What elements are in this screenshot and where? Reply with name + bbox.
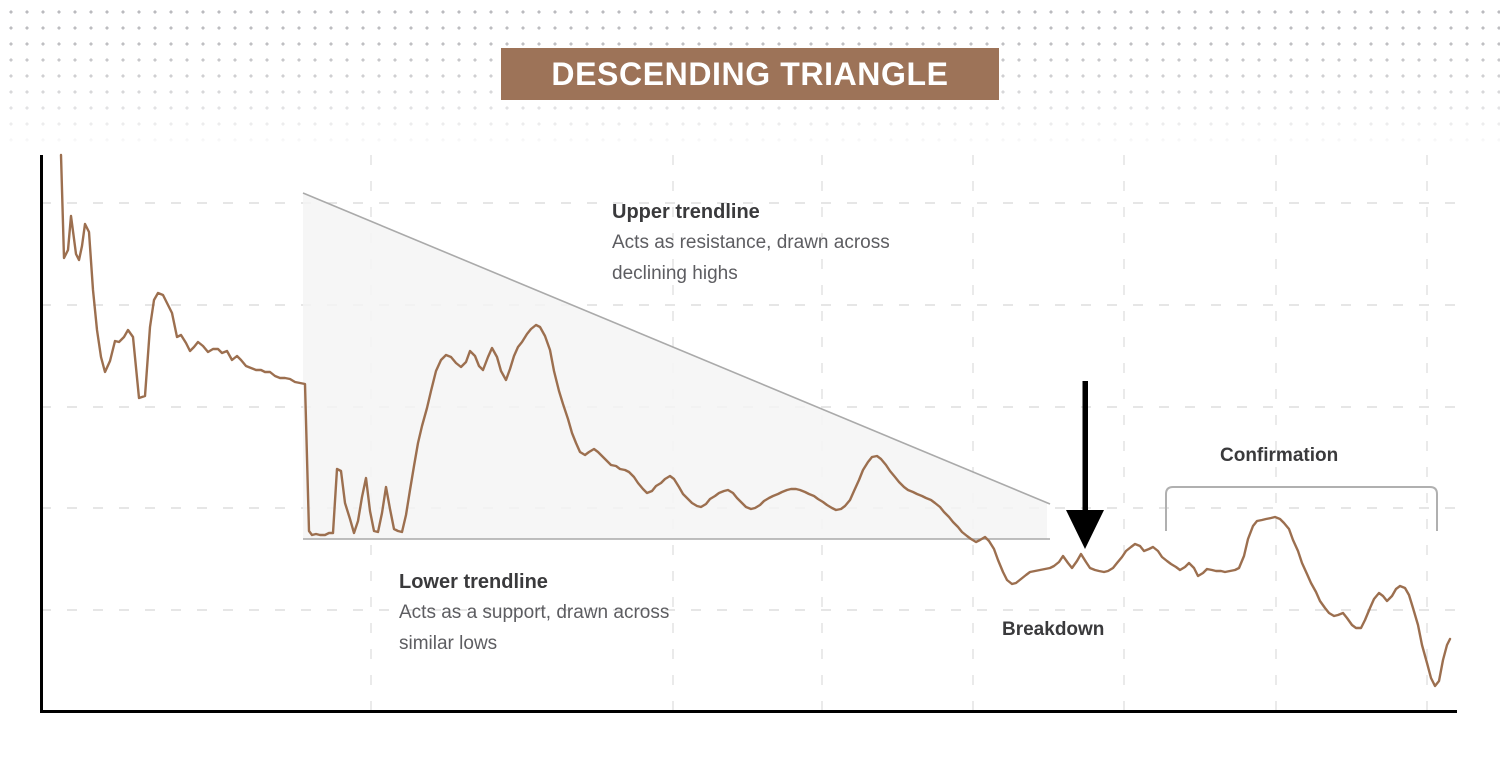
annotation-lower-line2: similar lows [399,628,669,659]
annotation-lower-trendline: Lower trendline Acts as a support, drawn… [399,567,669,659]
chart-canvas: DESCENDING TRIANGLE [0,0,1500,758]
annotation-upper-line1: Acts as resistance, drawn across [612,227,890,258]
breakdown-arrow-icon [1066,381,1104,549]
breakdown-label: Breakdown [1002,620,1104,639]
annotation-lower-line1: Acts as a support, drawn across [399,597,669,628]
confirmation-label: Confirmation [1220,446,1338,465]
annotation-upper-heading: Upper trendline [612,197,890,227]
annotation-lower-heading: Lower trendline [399,567,669,597]
annotation-upper-trendline: Upper trendline Acts as resistance, draw… [612,197,890,289]
confirmation-bracket [1166,487,1437,531]
price-chart-svg [0,0,1500,758]
annotation-upper-line2: declining highs [612,258,890,289]
